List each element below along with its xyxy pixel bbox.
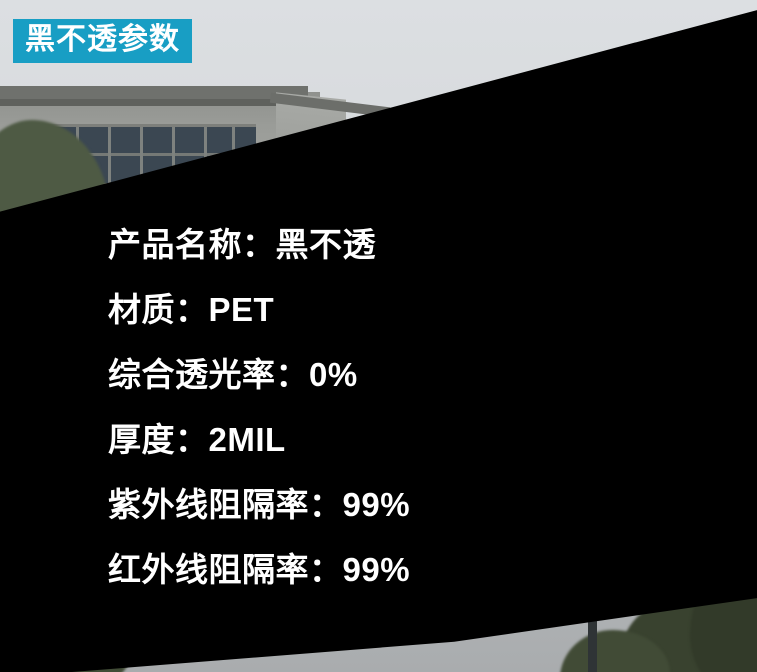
spec-list: 产品名称：黑不透 材质：PET 综合透光率：0% 厚度：2MIL 紫外线阻隔率：…: [108, 228, 668, 586]
window-mullion: [108, 127, 111, 183]
product-spec-banner: 黑不透参数 产品名称：黑不透 材质：PET 综合透光率：0% 厚度：2MIL 紫…: [0, 0, 757, 672]
spec-line-product-name: 产品名称：黑不透: [108, 228, 668, 261]
building-cornice: [0, 99, 290, 106]
spec-line-thickness: 厚度：2MIL: [108, 423, 668, 456]
spec-line-material: 材质：PET: [108, 293, 668, 326]
page-title-badge: 黑不透参数: [13, 19, 192, 63]
spec-line-uv-rejection: 紫外线阻隔率：99%: [108, 488, 668, 521]
spec-line-visible-light-transmittance: 综合透光率：0%: [108, 358, 668, 391]
building-roof: [0, 86, 308, 100]
spec-line-ir-rejection: 红外线阻隔率：99%: [108, 553, 668, 586]
